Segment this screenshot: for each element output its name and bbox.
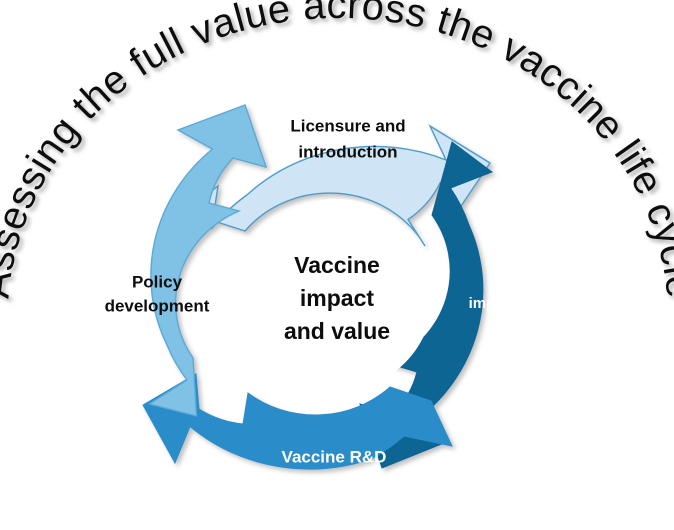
segment-label-policy-line2: development (105, 296, 210, 315)
segment-label-licensure-line1: Licensure and (290, 116, 405, 135)
segment-label-vaccine-rd-line1: Vaccine R&D (282, 447, 387, 466)
vaccine-life-cycle-diagram: Assessing the full value across the vacc… (0, 0, 674, 530)
segment-label-sustained-implementation: Sustained implementation (469, 274, 580, 312)
center-label-line1: Vaccine (294, 252, 380, 278)
segment-label-policy-line1: Policy (132, 272, 183, 291)
segment-label-sustained-line1: Sustained (488, 274, 560, 291)
segment-label-vaccine-rd: Vaccine R&D (282, 447, 387, 466)
center-label-line2: impact (300, 285, 374, 311)
center-label-line3: and value (284, 318, 390, 344)
segment-label-licensure: Licensure and introduction (290, 116, 405, 161)
segment-label-licensure-line2: introduction (298, 142, 397, 161)
segment-label-sustained-line2: implementation (469, 295, 580, 312)
diagram-canvas: Assessing the full value across the vacc… (0, 0, 674, 530)
